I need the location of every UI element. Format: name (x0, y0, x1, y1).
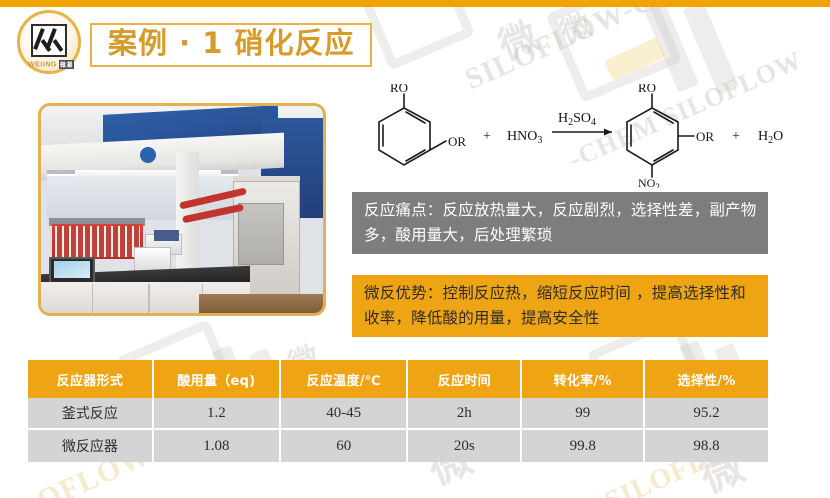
cell-conversion: 99.8 (522, 430, 645, 462)
pain-points-text: 反应痛点：反应放热量大，反应剧烈，选择性差，副产物多，酸用量大，后处理繁琐 (364, 198, 758, 248)
col-header-acid: 酸用量（eq) (154, 360, 281, 398)
cell-acid: 1.08 (154, 430, 281, 462)
table-row: 釜式反应 1.2 40-45 2h 99 95.2 (28, 398, 768, 430)
logo-brand-text: WEIING微凝 (16, 60, 86, 69)
photo-chiller-door (238, 203, 283, 265)
watermark-slash-1 (643, 0, 699, 93)
comparison-table: 反应器形式 酸用量（eq) 反应温度/℃ 反应时间 转化率/% 选择性/% 釜式… (28, 360, 768, 462)
cell-conversion: 99 (522, 398, 645, 430)
page-title-box: 案例 · 1 硝化反应 (90, 23, 372, 67)
byproduct-h2o: H2O (758, 129, 783, 146)
watermark-top-right: SILOFLOW-CHEM (460, 0, 728, 97)
watermark-slash-2 (683, 1, 739, 94)
logo-brand-latin: WEIING (28, 61, 57, 68)
top-accent-bar (0, 0, 830, 7)
cell-time: 2h (408, 398, 522, 430)
advantages-callout: 微反优势：控制反应热，缩短反应时间 ，提高选择性和收率，降低酸的用量，提高安全性 (352, 275, 768, 337)
cell-reactor: 釜式反应 (28, 398, 154, 430)
photo-reactor-modules (55, 226, 140, 257)
lab-equipment-photo (38, 103, 326, 316)
photo-cabinet-divider-1 (92, 284, 94, 313)
photo-instrument-1 (134, 247, 171, 272)
col-header-selectivity: 选择性/% (645, 360, 768, 398)
col-header-conversion: 转化率/% (522, 360, 645, 398)
logo-brand-cn: 微凝 (59, 60, 74, 69)
product-ro-label: RO (638, 84, 656, 95)
table-head: 反应器形式 酸用量（eq) 反应温度/℃ 反应时间 转化率/% 选择性/% (28, 360, 768, 398)
reactant-ro-label: RO (390, 84, 408, 95)
table-header-row: 反应器形式 酸用量（eq) 反应温度/℃ 反应时间 转化率/% 选择性/% (28, 360, 768, 398)
cell-acid: 1.2 (154, 398, 281, 430)
col-header-time: 反应时间 (408, 360, 522, 398)
photo-monitor-screen (54, 261, 91, 278)
col-header-temperature: 反应温度/℃ (281, 360, 408, 398)
reaction-scheme: RO OR + HNO3 H2SO4 RO OR NO2 (366, 84, 818, 188)
cell-temperature: 60 (281, 430, 408, 462)
advantages-text: 微反优势：控制反应热，缩短反应时间 ，提高选择性和收率，降低酸的用量，提高安全性 (364, 281, 758, 331)
cell-selectivity: 98.8 (645, 430, 768, 462)
product-or-label: OR (696, 129, 714, 144)
reaction-arrow (552, 129, 612, 136)
photo-hood-badge-icon (140, 147, 156, 163)
watermark-gold-blob-1 (604, 37, 666, 81)
photo-cabinet-divider-2 (148, 284, 150, 313)
product-no2-label: NO2 (638, 176, 660, 188)
reactant-or-label: OR (448, 134, 466, 149)
page-title: 案例 · 1 硝化反应 (108, 27, 354, 60)
plus-sign-1: + (483, 129, 491, 144)
watermark-logo-mark-4 (357, 0, 475, 71)
photo-floor (199, 294, 326, 313)
slide-root: SILOFLOW-CHEM -CHEM SILOFLOW SILOFLOW-CH… (0, 0, 830, 498)
pain-points-callout: 反应痛点：反应放热量大，反应剧烈，选择性差，副产物多，酸用量大，后处理繁琐 (352, 192, 768, 254)
col-header-reactor: 反应器形式 (28, 360, 154, 398)
condition-h2so4: H2SO4 (558, 111, 596, 128)
watermark-cn-4: 微 (553, 0, 597, 52)
table-body: 釜式反应 1.2 40-45 2h 99 95.2 微反应器 1.08 60 2… (28, 398, 768, 462)
comparison-table-wrapper: 反应器形式 酸用量（eq) 反应温度/℃ 反应时间 转化率/% 选择性/% 釜式… (28, 360, 768, 462)
plus-sign-2: + (732, 129, 740, 144)
reaction-scheme-svg: RO OR + HNO3 H2SO4 RO OR NO2 (366, 84, 818, 188)
table-row: 微反应器 1.08 60 20s 99.8 98.8 (28, 430, 768, 462)
cell-selectivity: 95.2 (645, 398, 768, 430)
photo-hood-light (75, 170, 222, 178)
cell-time: 20s (408, 430, 522, 462)
company-logo: WEIING微凝 (14, 12, 88, 74)
cell-temperature: 40-45 (281, 398, 408, 430)
watermark-cn-1: 微 (489, 5, 545, 70)
cell-reactor: 微反应器 (28, 430, 154, 462)
photo-instrument-2-display (154, 230, 179, 240)
reagent-hno3: HNO3 (507, 129, 542, 146)
